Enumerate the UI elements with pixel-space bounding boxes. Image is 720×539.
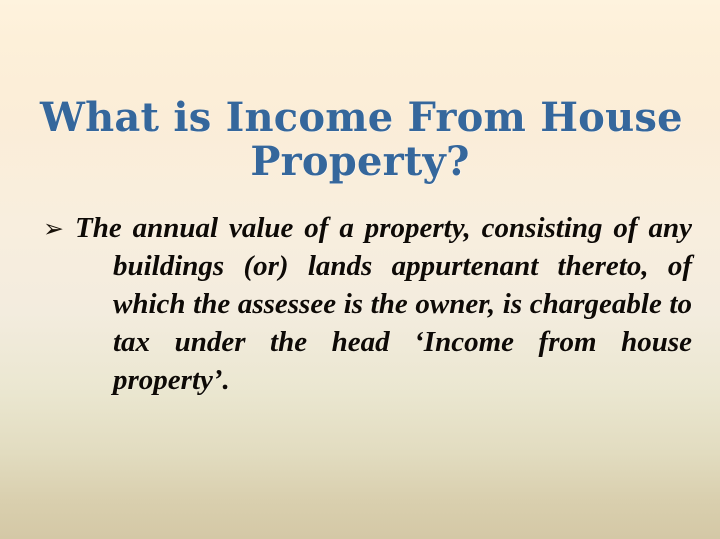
bullet-item-text: The annual value of a property, consisti… bbox=[113, 209, 692, 437]
bullet-list-item: ➢ The annual value of a property, consis… bbox=[40, 209, 692, 437]
title-line-1: What is Income From House bbox=[40, 96, 680, 140]
slide-body: ➢ The annual value of a property, consis… bbox=[40, 209, 692, 437]
arrowhead-bullet-icon: ➢ bbox=[43, 211, 71, 247]
slide-title: What is Income From House Property? bbox=[40, 96, 680, 184]
title-line-2: Property? bbox=[40, 140, 680, 184]
slide-canvas: What is Income From House Property? ➢ Th… bbox=[0, 0, 720, 539]
